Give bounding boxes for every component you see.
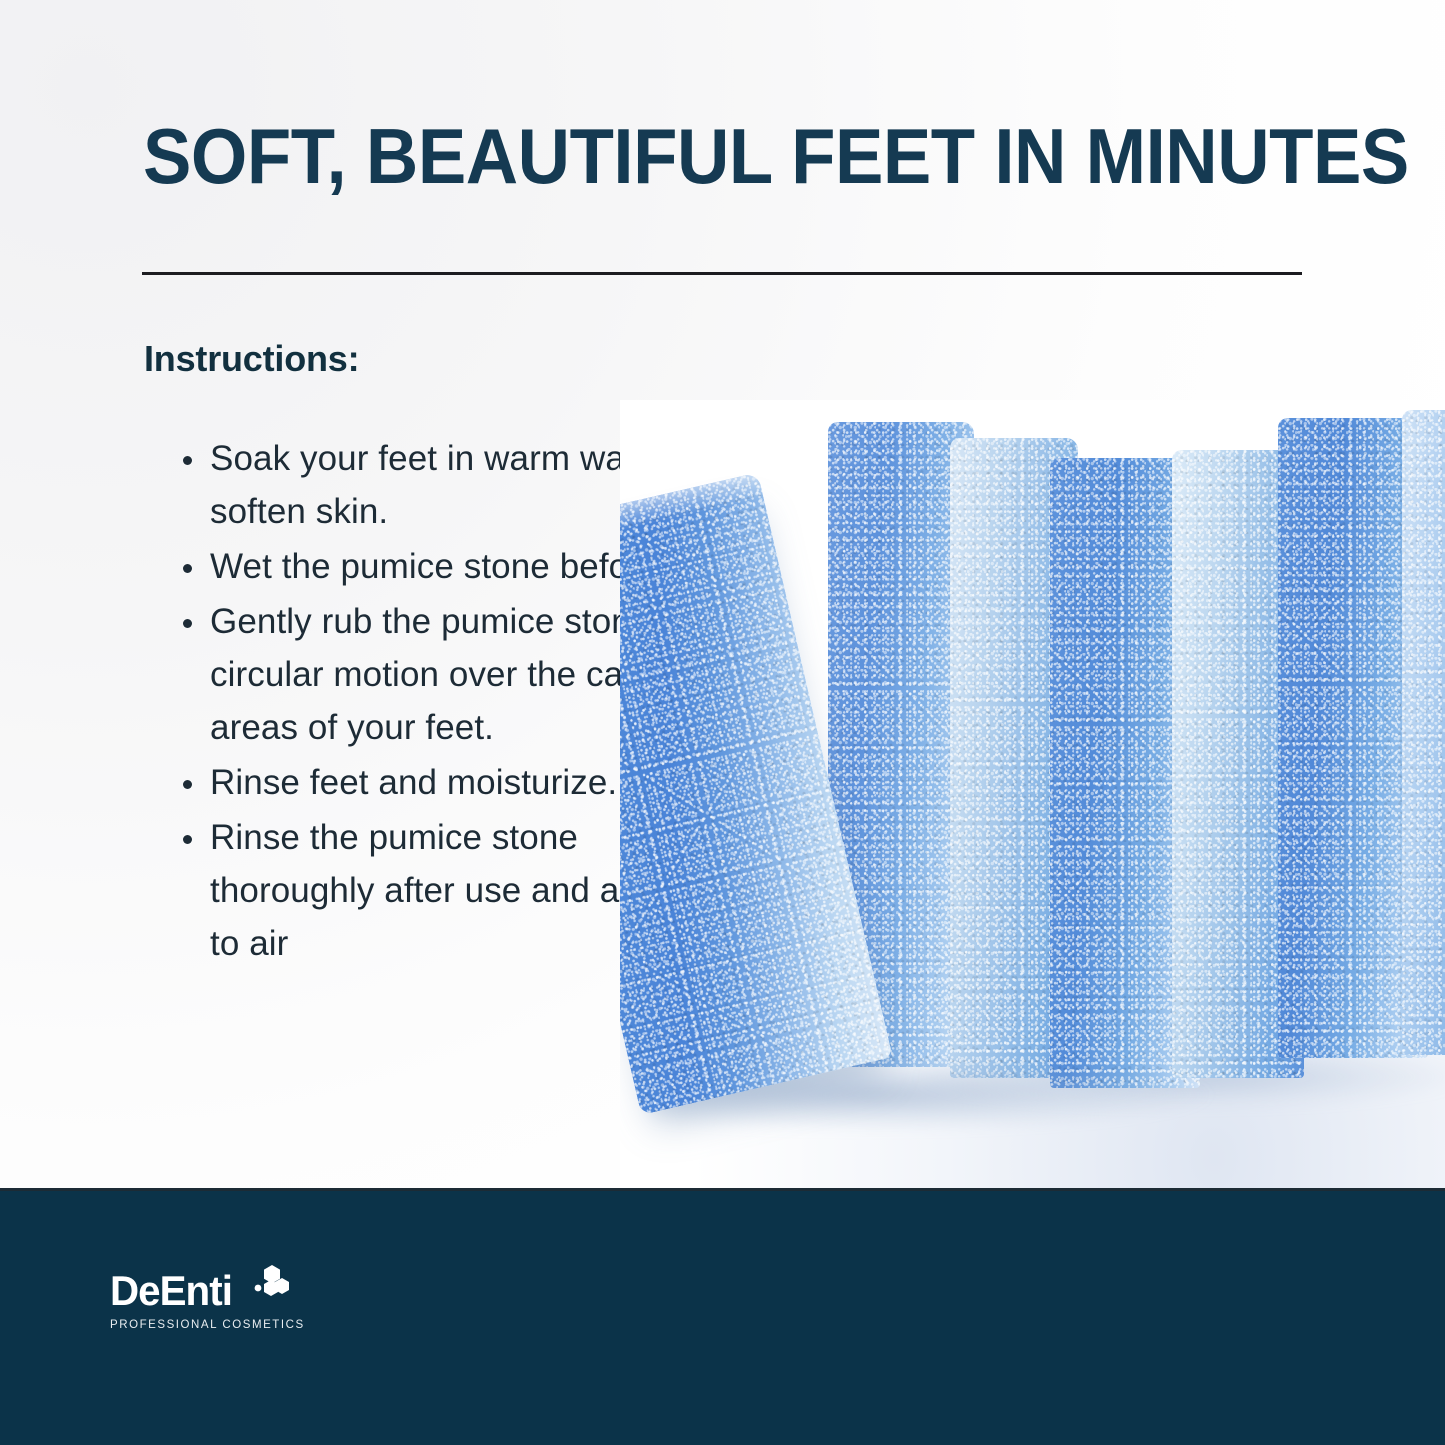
bullet-dot-icon bbox=[183, 780, 192, 789]
brand-logo: DeEnti PROFESSIONAL COSMETICS bbox=[110, 1269, 310, 1332]
hexagon-cluster-icon bbox=[246, 1263, 290, 1307]
list-item-text: Rinse feet and moisturize. bbox=[210, 763, 617, 802]
product-photo bbox=[620, 400, 1445, 1190]
infographic-page: SOFT, BEAUTIFUL FEET IN MINUTES Instruct… bbox=[0, 0, 1445, 1445]
page-title: SOFT, BEAUTIFUL FEET IN MINUTES bbox=[143, 112, 1240, 200]
footer-bar: DeEnti PROFESSIONAL COSMETICS bbox=[0, 1188, 1445, 1445]
bullet-dot-icon bbox=[183, 835, 192, 844]
logo-tagline: PROFESSIONAL COSMETICS bbox=[110, 1318, 310, 1332]
bullet-dot-icon bbox=[183, 619, 192, 628]
bullet-dot-icon bbox=[183, 564, 192, 573]
pumice-bar bbox=[1402, 410, 1445, 1055]
instructions-heading: Instructions: bbox=[144, 337, 359, 381]
header-divider bbox=[142, 272, 1302, 275]
bullet-dot-icon bbox=[183, 456, 192, 465]
